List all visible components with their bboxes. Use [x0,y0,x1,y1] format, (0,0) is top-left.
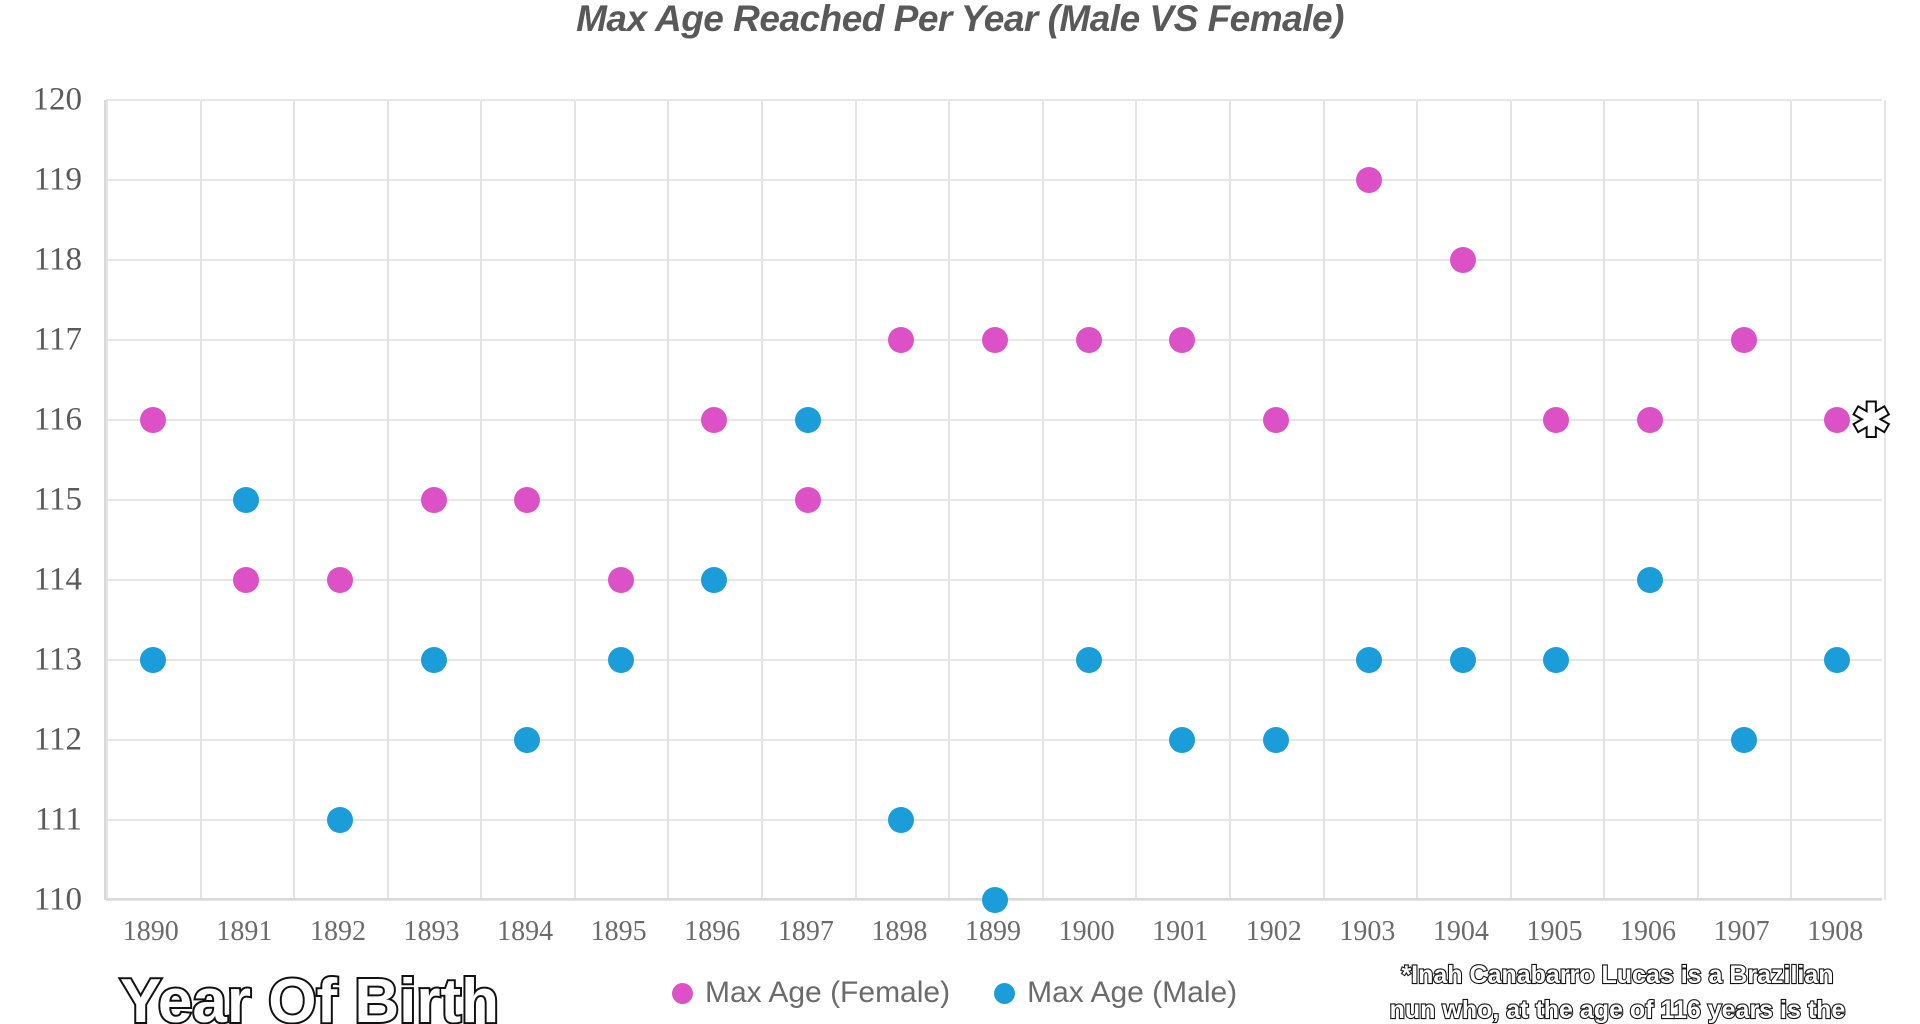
chart-legend: Max Age (Female)Max Age (Male) [672,976,1237,1010]
data-point-male[interactable] [701,567,727,593]
plot-area: ✱ [104,100,1882,900]
data-point-male[interactable] [1450,647,1476,673]
y-axis-tick-label: 117 [0,322,82,359]
data-point-male[interactable] [421,647,447,673]
gridline-vertical [1790,100,1792,900]
page-title: Max Age Reached Per Year (Male VS Female… [0,0,1920,40]
gridline-vertical [667,100,669,900]
x-axis-tick-label: 1907 [1714,916,1770,948]
y-axis-tick-label: 116 [0,402,82,439]
data-point-female[interactable] [1731,327,1757,353]
y-axis-tick-label: 110 [0,882,82,919]
gridline-vertical [480,100,482,900]
gridline-vertical [1603,100,1605,900]
x-axis-tick-label: 1892 [310,916,366,948]
x-axis-tick-label: 1898 [871,916,927,948]
legend-item[interactable]: Max Age (Male) [994,976,1237,1010]
gridline-horizontal [106,659,1882,661]
y-axis-tick-label: 114 [0,562,82,599]
data-point-male[interactable] [982,887,1008,913]
y-axis-tick-label: 115 [0,482,82,519]
chart-page: Max Age Reached Per Year (Male VS Female… [0,0,1920,1024]
data-point-female[interactable] [888,327,914,353]
data-point-male[interactable] [140,647,166,673]
data-point-male[interactable] [1076,647,1102,673]
data-point-male[interactable] [608,647,634,673]
data-point-female[interactable] [1824,407,1850,433]
gridline-horizontal [106,499,1882,501]
gridline-vertical [1697,100,1699,900]
gridline-vertical [855,100,857,900]
y-axis-tick-label: 112 [0,722,82,759]
data-point-female[interactable] [1076,327,1102,353]
y-axis-tick-label: 111 [0,802,82,839]
data-point-female[interactable] [608,567,634,593]
data-point-male[interactable] [514,727,540,753]
data-point-female[interactable] [1169,327,1195,353]
x-axis-tick-label: 1904 [1433,916,1489,948]
footnote-line: nun who, at the age of 116 years is the [1315,993,1920,1024]
gridline-horizontal [106,739,1882,741]
data-point-male[interactable] [1824,647,1850,673]
x-axis-tick-label: 1900 [1059,916,1115,948]
data-point-male[interactable] [1731,727,1757,753]
gridline-vertical [574,100,576,900]
gridline-horizontal [106,99,1882,101]
data-point-male[interactable] [233,487,259,513]
legend-swatch-icon [672,983,693,1004]
data-point-female[interactable] [1637,407,1663,433]
legend-item[interactable]: Max Age (Female) [672,976,950,1010]
x-axis-tick-label: 1899 [965,916,1021,948]
footnote-text: *Inah Canabarro Lucas is a Braziliannun … [1315,958,1920,1024]
data-point-female[interactable] [795,487,821,513]
x-axis-title: Year Of Birth [120,966,499,1024]
gridline-vertical [948,100,950,900]
data-point-female[interactable] [1263,407,1289,433]
gridline-horizontal [106,179,1882,181]
y-axis-tick-label: 120 [0,82,82,119]
gridline-vertical [1884,100,1886,900]
gridline-vertical [387,100,389,900]
gridline-vertical [1510,100,1512,900]
x-axis-tick-label: 1894 [497,916,553,948]
gridline-vertical [106,100,108,900]
data-point-female[interactable] [701,407,727,433]
data-point-female[interactable] [1450,247,1476,273]
data-point-female[interactable] [1543,407,1569,433]
x-axis-tick-label: 1903 [1339,916,1395,948]
x-axis-tick-label: 1905 [1526,916,1582,948]
gridline-vertical [1323,100,1325,900]
x-axis-tick-label: 1901 [1152,916,1208,948]
x-axis-tick-label: 1902 [1246,916,1302,948]
x-axis-tick-label: 1896 [684,916,740,948]
data-point-female[interactable] [233,567,259,593]
x-axis-tick-label: 1891 [216,916,272,948]
gridline-horizontal [106,819,1882,821]
gridline-vertical [200,100,202,900]
legend-label: Max Age (Female) [705,976,950,1010]
data-point-male[interactable] [1356,647,1382,673]
x-axis-tick-label: 1893 [404,916,460,948]
data-point-male[interactable] [888,807,914,833]
data-point-male[interactable] [1263,727,1289,753]
x-axis-tick-label: 1895 [591,916,647,948]
gridline-vertical [1416,100,1418,900]
x-axis-tick-label: 1906 [1620,916,1676,948]
data-point-male[interactable] [1169,727,1195,753]
legend-swatch-icon [994,983,1015,1004]
y-axis-tick-label: 118 [0,242,82,279]
data-point-female[interactable] [514,487,540,513]
asterisk-marker-icon: ✱ [1852,397,1891,443]
y-axis-tick-label: 119 [0,162,82,199]
data-point-male[interactable] [1543,647,1569,673]
gridline-vertical [1135,100,1137,900]
data-point-male[interactable] [795,407,821,433]
x-axis-tick-label: 1908 [1807,916,1863,948]
x-axis-tick-label: 1897 [778,916,834,948]
data-point-male[interactable] [327,807,353,833]
x-axis-tick-label: 1890 [123,916,179,948]
gridline-vertical [293,100,295,900]
y-axis-tick-label: 113 [0,642,82,679]
data-point-female[interactable] [140,407,166,433]
legend-label: Max Age (Male) [1027,976,1237,1010]
data-point-female[interactable] [982,327,1008,353]
gridline-horizontal [106,259,1882,261]
data-point-female[interactable] [421,487,447,513]
data-point-female[interactable] [1356,167,1382,193]
footnote-line: *Inah Canabarro Lucas is a Brazilian [1315,958,1920,993]
plot-wrapper: ✱ [104,100,1882,900]
gridline-vertical [1042,100,1044,900]
data-point-female[interactable] [327,567,353,593]
gridline-vertical [1229,100,1231,900]
gridline-vertical [761,100,763,900]
gridline-horizontal [106,419,1882,421]
data-point-male[interactable] [1637,567,1663,593]
gridline-horizontal [106,579,1882,581]
